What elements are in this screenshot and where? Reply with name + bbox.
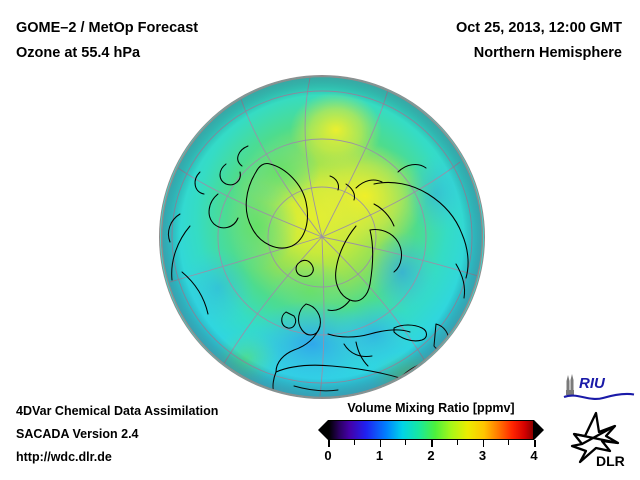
colorbar-extend-min-arrow [318, 420, 328, 440]
footer-credits: 4DVar Chemical Data Assimilation SACADA … [16, 400, 218, 469]
variable-level-title: Ozone at 55.4 hPa [16, 41, 198, 66]
colorbar: Volume Mixing Ratio [ppmv] 0 1 2 3 4 [318, 401, 544, 466]
colorbar-tick-1: 1 [376, 448, 383, 463]
colorbar-title: Volume Mixing Ratio [ppmv] [318, 401, 544, 415]
riu-logo: RIU [563, 373, 635, 403]
timestamp-label: Oct 25, 2013, 12:00 GMT [456, 16, 622, 41]
dlr-logo: DLR [566, 410, 636, 470]
url-label[interactable]: http://wdc.dlr.de [16, 446, 218, 469]
dlr-wordmark: DLR [596, 453, 625, 469]
colorbar-tick-2: 2 [427, 448, 434, 463]
globe-map [160, 76, 484, 398]
header-left: GOME–2 / MetOp Forecast Ozone at 55.4 hP… [16, 16, 198, 66]
riu-wordmark: RIU [579, 375, 606, 392]
colorbar-gradient [328, 420, 534, 440]
instrument-title: GOME–2 / MetOp Forecast [16, 16, 198, 41]
riu-wave-icon [564, 394, 634, 399]
colorbar-tick-4: 4 [530, 448, 537, 463]
colorbar-tick-labels: 0 1 2 3 4 [328, 448, 534, 466]
colorbar-strip [318, 420, 544, 440]
ozone-field-svg [160, 76, 484, 398]
colorbar-extend-max-arrow [534, 420, 544, 440]
version-label: SACADA Version 2.4 [16, 423, 218, 446]
cathedral-spires-icon [566, 374, 574, 395]
method-label: 4DVar Chemical Data Assimilation [16, 400, 218, 423]
colorbar-ticks [328, 440, 534, 447]
globe-disc [160, 76, 484, 398]
colorbar-tick-3: 3 [479, 448, 486, 463]
ozone-field [161, 76, 483, 398]
colorbar-tick-0: 0 [324, 448, 331, 463]
header-right: Oct 25, 2013, 12:00 GMT Northern Hemisph… [456, 16, 622, 66]
figure-canvas: GOME–2 / MetOp Forecast Ozone at 55.4 hP… [0, 0, 640, 480]
hemisphere-label: Northern Hemisphere [456, 41, 622, 66]
